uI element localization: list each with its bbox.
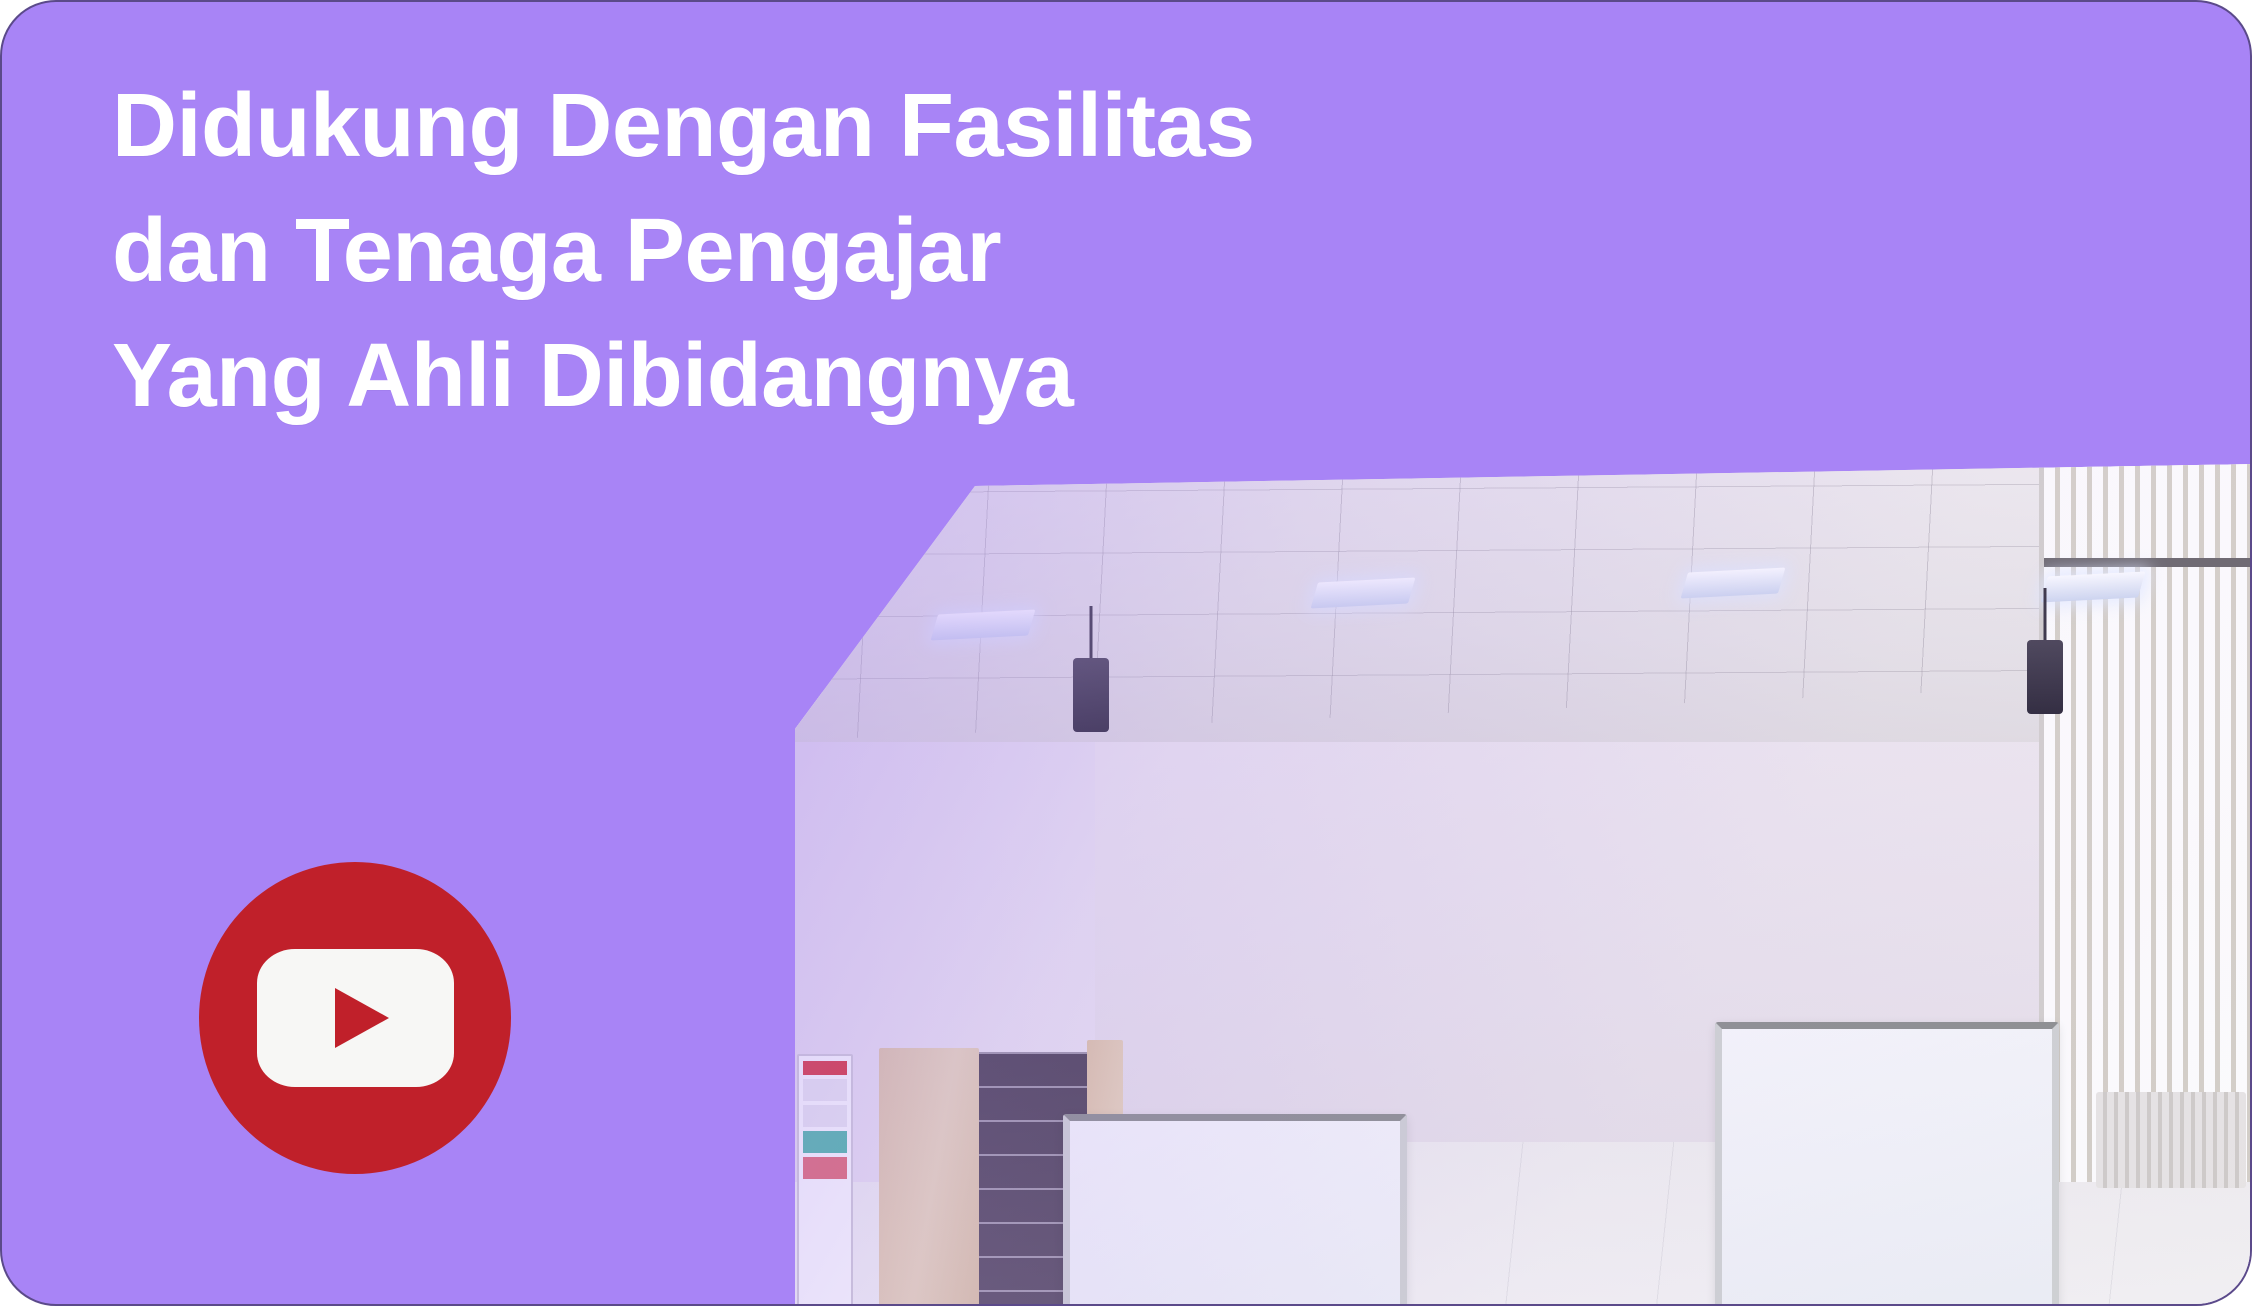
headline-line-3: Yang Ahli Dibidangnya xyxy=(112,314,1255,439)
whiteboard-right xyxy=(1715,1022,2059,1306)
headline-line-1: Didukung Dengan Fasilitas xyxy=(112,64,1255,189)
wall-poster xyxy=(797,1054,853,1306)
poster-row xyxy=(803,1131,847,1153)
poster-row xyxy=(803,1079,847,1101)
poster-row xyxy=(803,1105,847,1127)
youtube-play-icon xyxy=(257,949,454,1087)
poster-row xyxy=(803,1157,847,1179)
ceiling-speaker xyxy=(1073,658,1109,732)
youtube-play-button[interactable] xyxy=(199,862,511,1174)
ceiling-light xyxy=(1681,567,1786,598)
headline-line-2: dan Tenaga Pengajar xyxy=(112,189,1255,314)
ceiling-speaker xyxy=(2027,640,2063,714)
radiator xyxy=(2096,1092,2246,1188)
classroom-photo-scene xyxy=(795,462,2252,1306)
page-title: Didukung Dengan Fasilitas dan Tenaga Pen… xyxy=(112,64,1255,439)
whiteboard-left xyxy=(1063,1114,1407,1306)
window xyxy=(2039,462,2252,1182)
poster-header xyxy=(803,1061,847,1075)
wooden-cabinet xyxy=(879,1048,979,1306)
ceiling-light xyxy=(1311,577,1416,608)
play-triangle-icon xyxy=(335,988,389,1048)
promo-card: Didukung Dengan Fasilitas dan Tenaga Pen… xyxy=(0,0,2252,1306)
blinds-rail xyxy=(2044,558,2252,567)
ceiling-light xyxy=(2041,571,2146,602)
ceiling-light xyxy=(931,609,1036,640)
classroom-photo xyxy=(795,462,2252,1306)
window-blinds xyxy=(2044,462,2252,1182)
